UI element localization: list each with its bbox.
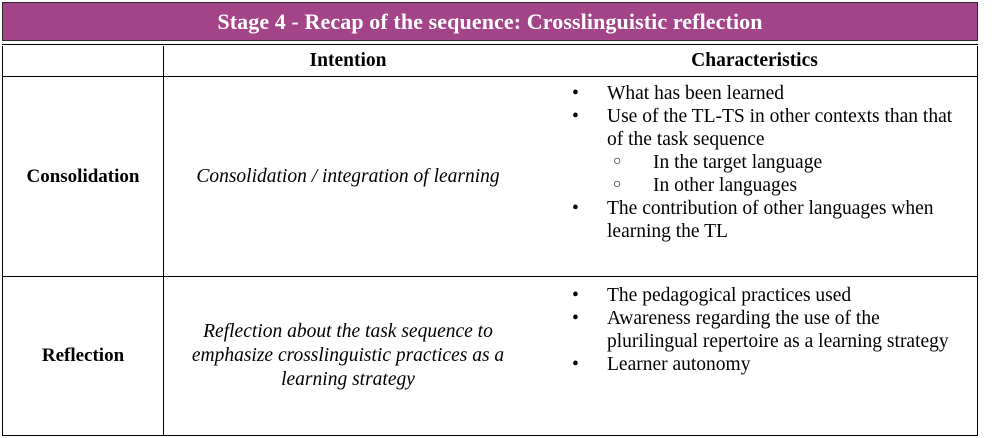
characteristics-list-tail: • The contribution of other languages wh… (568, 197, 965, 243)
list-item-text: Learner autonomy (607, 353, 965, 376)
list-item-text: The contribution of other languages when… (607, 197, 965, 243)
intention-text: Consolidation / integration of learning (196, 165, 499, 189)
sub-list-item-text: In other languages (653, 175, 797, 196)
sub-list-item-text: In the target language (653, 152, 822, 173)
header-cell-stage (3, 46, 164, 76)
list-item-text: What has been learned (607, 82, 965, 105)
row-stage-cell-consolidation: Consolidation (3, 77, 164, 276)
sub-list-item: ○ In other languages (568, 174, 965, 197)
filled-bullet-icon: • (572, 307, 579, 330)
table-header-row: Intention Characteristics (3, 46, 977, 77)
filled-bullet-icon: • (572, 284, 579, 307)
list-item: • Use of the TL-TS in other contexts tha… (568, 105, 965, 151)
stage-name-label: Reflection (42, 345, 124, 367)
characteristics-list: • The pedagogical practices used • Aware… (568, 284, 965, 376)
characteristics-sublist: ○ In the target language ○ In other lang… (568, 151, 965, 197)
filled-bullet-icon: • (572, 82, 579, 105)
row-intention-cell-reflection: Reflection about the task sequence to em… (164, 277, 532, 435)
header-cell-intention: Intention (164, 46, 532, 76)
row-characteristics-cell-consolidation: • What has been learned • Use of the TL-… (532, 77, 977, 276)
list-item-text: Use of the TL-TS in other contexts than … (607, 105, 965, 151)
stage-table-page: Stage 4 - Recap of the sequence: Crossli… (0, 0, 992, 438)
row-characteristics-cell-reflection: • The pedagogical practices used • Aware… (532, 277, 977, 435)
header-cell-characteristics: Characteristics (532, 46, 977, 76)
list-item: • Learner autonomy (568, 353, 965, 376)
hollow-bullet-icon: ○ (613, 174, 621, 196)
row-intention-cell-consolidation: Consolidation / integration of learning (164, 77, 532, 276)
sub-list-item: ○ In the target language (568, 151, 965, 174)
list-item: • The contribution of other languages wh… (568, 197, 965, 243)
intention-text: Reflection about the task sequence to em… (178, 320, 518, 391)
list-item-text: Awareness regarding the use of the pluri… (607, 307, 965, 353)
header-label-intention: Intention (310, 51, 387, 71)
characteristics-list: • What has been learned • Use of the TL-… (568, 82, 965, 151)
row-stage-cell-reflection: Reflection (3, 277, 164, 435)
stage-banner: Stage 4 - Recap of the sequence: Crossli… (2, 2, 978, 41)
filled-bullet-icon: • (572, 197, 579, 220)
list-item: • Awareness regarding the use of the plu… (568, 307, 965, 353)
stage-name-label: Consolidation (27, 166, 140, 188)
filled-bullet-icon: • (572, 353, 579, 376)
filled-bullet-icon: • (572, 105, 579, 128)
table-row: Reflection Reflection about the task seq… (3, 277, 977, 435)
stage-banner-title: Stage 4 - Recap of the sequence: Crossli… (217, 11, 762, 33)
list-item: • What has been learned (568, 82, 965, 105)
stage-table: Intention Characteristics Consolidation … (2, 46, 978, 436)
list-item-text: The pedagogical practices used (607, 284, 965, 307)
header-label-characteristics: Characteristics (691, 51, 818, 71)
hollow-bullet-icon: ○ (613, 151, 621, 173)
table-row: Consolidation Consolidation / integratio… (3, 77, 977, 277)
list-item: • The pedagogical practices used (568, 284, 965, 307)
